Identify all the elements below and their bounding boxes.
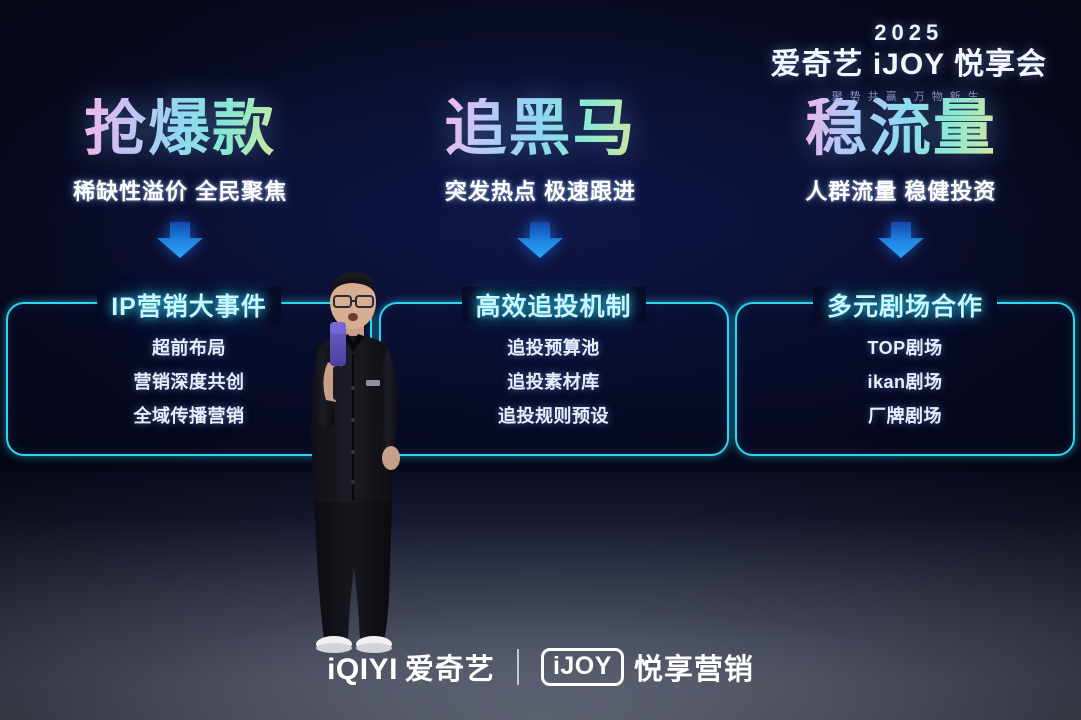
ijoy-logo: iJOY 悦享营销 [541,646,754,688]
neon-box-items: TOP剧场 ikan剧场 厂牌剧场 [737,334,1073,428]
list-item: 追投规则预设 [498,402,609,428]
neon-box-row: IP营销大事件 超前布局 营销深度共创 全域传播营销 高效追投机制 追投预算池 … [0,302,1081,462]
list-item: 追投素材库 [507,368,600,394]
neon-box-title: IP营销大事件 [97,287,281,323]
iqiyi-logo-en: iQIYI [327,653,398,687]
arrow-down-icon [157,222,203,258]
column-headline: 追黑马 [444,98,636,160]
neon-box-theater-cooperation: 多元剧场合作 TOP剧场 ikan剧场 厂牌剧场 [735,302,1075,456]
column-headline: 稳流量 [805,98,997,160]
event-logo-year: 2025 [771,22,1048,44]
ijoy-logo-mark: iJOY [541,648,624,685]
iqiyi-logo-cn: 爱奇艺 [405,646,495,688]
bottom-logo-bar: iQIYI 爱奇艺 iJOY 悦享营销 [0,646,1081,688]
arrow-down-icon [517,222,563,258]
logo-divider [517,649,519,685]
list-item: 营销深度共创 [134,368,245,394]
neon-box-追投机制: 高效追投机制 追投预算池 追投素材库 追投规则预设 [379,302,729,456]
event-logo-name: 爱奇艺 iJOY 悦享会 [771,49,1048,81]
speaker-person [288,268,423,658]
iqiyi-logo: iQIYI 爱奇艺 [327,646,495,688]
neon-box-title: 多元剧场合作 [813,287,997,323]
neon-box-title: 高效追投机制 [461,287,645,323]
column-subline: 突发热点 极速跟进 [445,174,636,206]
list-item: ikan剧场 [867,368,942,394]
list-item: 厂牌剧场 [868,402,942,428]
arrow-down-icon [878,222,924,258]
event-logo-subtitle: 聚势共赢 万物新生 [771,88,1048,104]
list-item: 全域传播营销 [134,402,245,428]
event-logo: 2025 爱奇艺 iJOY 悦享会 聚势共赢 万物新生 [771,22,1048,104]
neon-box-items: 追投预算池 追投素材库 追投规则预设 [381,334,727,428]
list-item: 超前布局 [152,334,226,360]
list-item: 追投预算池 [507,334,600,360]
ijoy-logo-cn: 悦享营销 [634,646,754,688]
presentation-slide-photo: 2025 爱奇艺 iJOY 悦享会 聚势共赢 万物新生 抢爆款 稀缺性溢价 全民… [0,0,1081,720]
column-headline: 抢爆款 [84,98,276,160]
list-item: TOP剧场 [867,334,942,360]
column-subline: 稀缺性溢价 全民聚焦 [73,174,287,206]
column-subline: 人群流量 稳健投资 [805,174,996,206]
